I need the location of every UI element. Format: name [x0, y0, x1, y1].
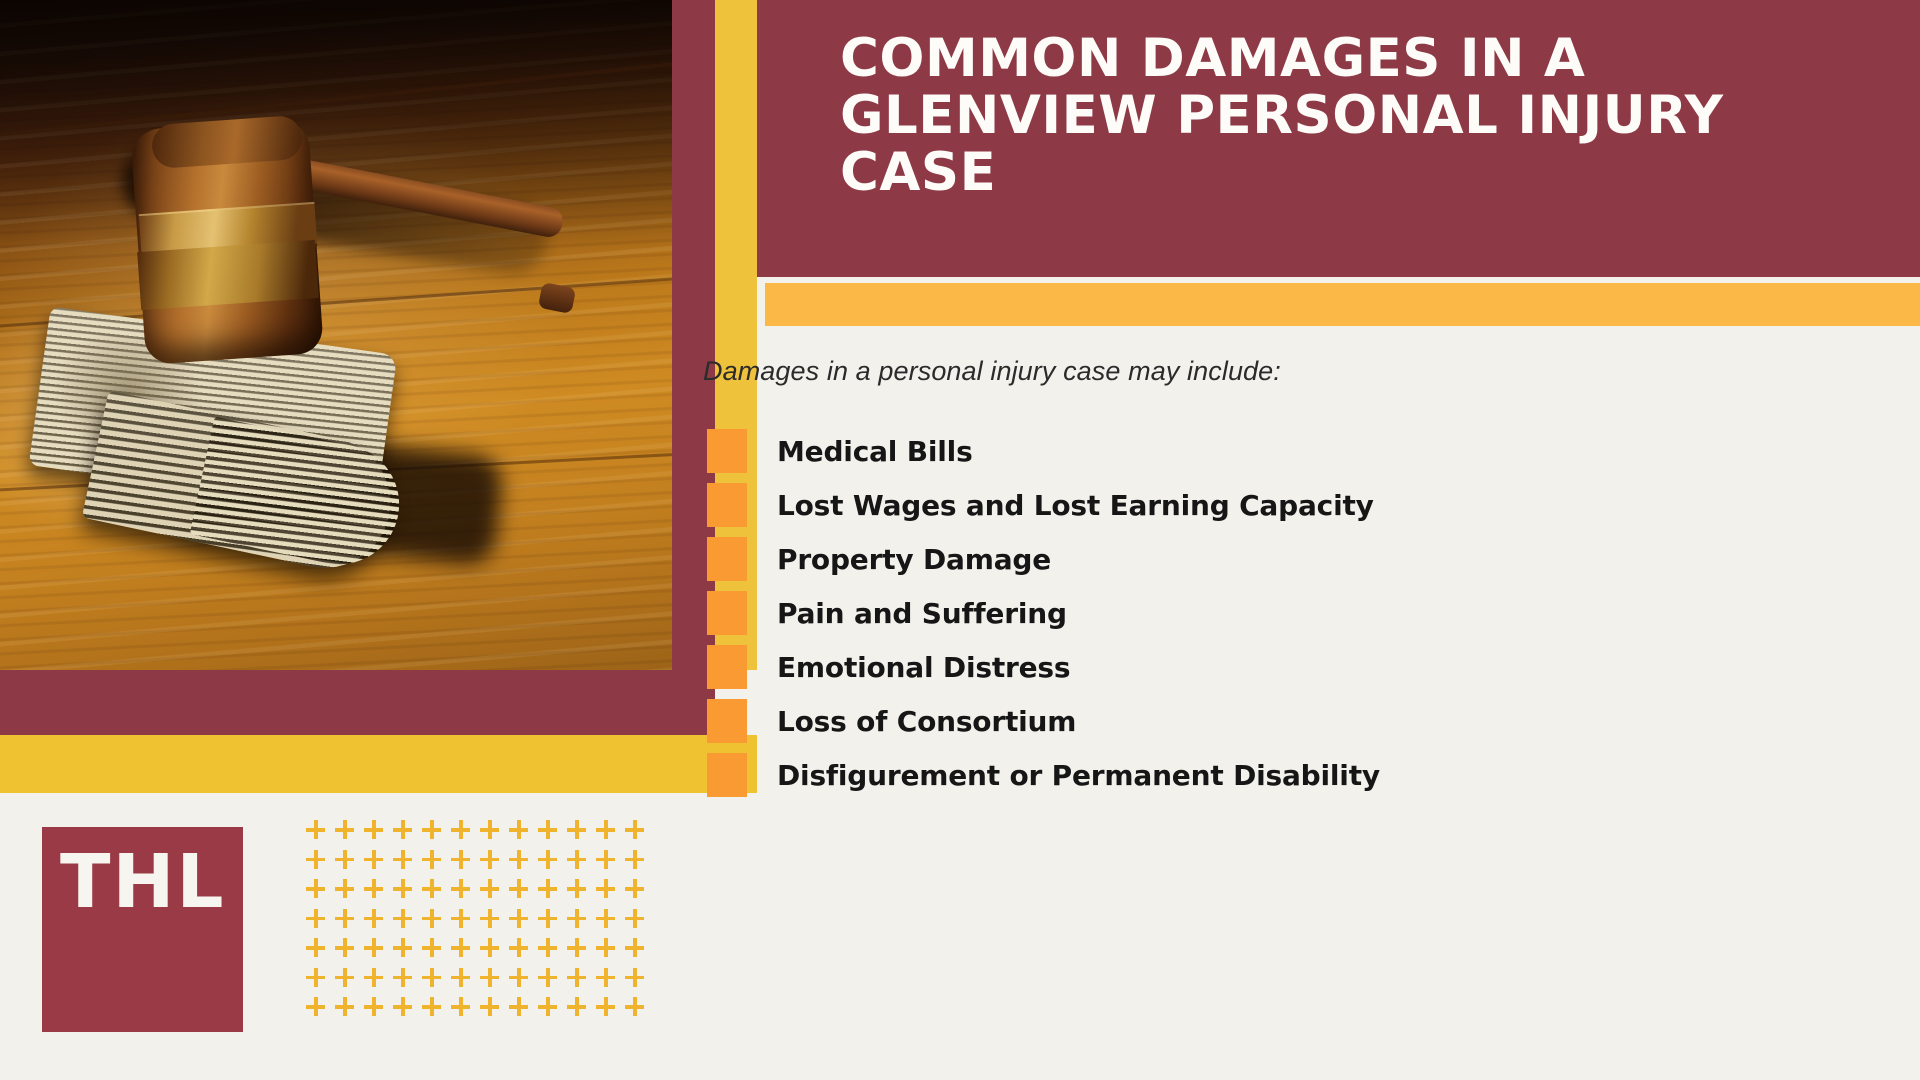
plus-icon	[451, 997, 470, 1016]
plus-icon	[335, 997, 354, 1016]
plus-icon	[625, 850, 644, 869]
plus-icon	[567, 997, 586, 1016]
list-item-label: Emotional Distress	[777, 651, 1070, 684]
plus-icon	[306, 879, 325, 898]
plus-icon	[538, 997, 557, 1016]
plus-icon	[480, 968, 499, 987]
plus-icon	[393, 879, 412, 898]
plus-icon	[625, 909, 644, 928]
plus-icon	[625, 879, 644, 898]
list-item: Disfigurement or Permanent Disability	[703, 748, 1893, 802]
plus-icon	[625, 938, 644, 957]
plus-icon	[538, 968, 557, 987]
plus-icon	[625, 820, 644, 839]
bullet-square-icon	[707, 537, 747, 581]
plus-icon	[567, 850, 586, 869]
plus-icon	[596, 909, 615, 928]
bullet-square-icon	[707, 753, 747, 797]
list-item-label: Medical Bills	[777, 435, 973, 468]
plus-icon	[538, 850, 557, 869]
plus-icon	[538, 879, 557, 898]
list-item: Pain and Suffering	[703, 586, 1893, 640]
plus-icon	[567, 879, 586, 898]
list-item: Emotional Distress	[703, 640, 1893, 694]
plus-icon	[364, 997, 383, 1016]
plus-icon	[335, 850, 354, 869]
plus-icon	[625, 997, 644, 1016]
plus-icon	[509, 968, 528, 987]
list-item: Lost Wages and Lost Earning Capacity	[703, 478, 1893, 532]
plus-icon	[335, 968, 354, 987]
plus-icon	[451, 909, 470, 928]
orange-accent-bar	[765, 283, 1920, 326]
list-item-label: Property Damage	[777, 543, 1051, 576]
plus-icon	[567, 938, 586, 957]
plus-icon	[480, 879, 499, 898]
plus-icon	[306, 820, 325, 839]
gavel-brass-band	[137, 240, 319, 310]
plus-icon	[335, 820, 354, 839]
frame-band-maroon-bottom	[0, 670, 715, 735]
list-item-label: Lost Wages and Lost Earning Capacity	[777, 489, 1374, 522]
bullet-square-icon	[707, 699, 747, 743]
title-header-block: Common Damages in a Glenview Personal In…	[757, 0, 1920, 277]
plus-icon	[335, 879, 354, 898]
list-item: Loss of Consortium	[703, 694, 1893, 748]
plus-icon	[625, 968, 644, 987]
plus-icon	[567, 909, 586, 928]
plus-icon	[393, 938, 412, 957]
plus-icon	[596, 968, 615, 987]
plus-icon	[596, 997, 615, 1016]
gavel-money-photo	[0, 0, 672, 670]
plus-icon	[393, 997, 412, 1016]
plus-icon	[451, 938, 470, 957]
plus-icon	[451, 820, 470, 839]
plus-icon	[393, 909, 412, 928]
thl-logo-text: THL	[60, 845, 226, 919]
bullet-square-icon	[707, 429, 747, 473]
plus-icon	[509, 938, 528, 957]
plus-icon	[509, 820, 528, 839]
frame-band-yellow-bottom	[0, 735, 757, 793]
plus-icon	[480, 909, 499, 928]
list-item: Medical Bills	[703, 424, 1893, 478]
plus-icon	[451, 879, 470, 898]
plus-icon	[567, 820, 586, 839]
plus-icon	[538, 909, 557, 928]
plus-icon	[538, 938, 557, 957]
plus-icon	[596, 938, 615, 957]
plus-icon	[596, 850, 615, 869]
plus-icon	[335, 909, 354, 928]
plus-icon	[509, 879, 528, 898]
plus-icon	[480, 850, 499, 869]
plus-icon	[509, 997, 528, 1016]
plus-icon	[393, 968, 412, 987]
plus-icon	[596, 879, 615, 898]
plus-icon	[393, 820, 412, 839]
plus-icon	[422, 909, 441, 928]
plus-icon	[364, 850, 383, 869]
plus-icon	[422, 820, 441, 839]
plus-icon	[422, 968, 441, 987]
plus-pattern-decoration	[306, 820, 636, 1035]
list-item-label: Loss of Consortium	[777, 705, 1076, 738]
plus-icon	[364, 909, 383, 928]
plus-icon	[422, 997, 441, 1016]
plus-icon	[364, 879, 383, 898]
bullet-square-icon	[707, 591, 747, 635]
infographic-canvas: Common Damages in a Glenview Personal In…	[0, 0, 1920, 1080]
plus-icon	[509, 850, 528, 869]
plus-icon	[422, 879, 441, 898]
list-item: Property Damage	[703, 532, 1893, 586]
plus-icon	[335, 938, 354, 957]
plus-icon	[451, 850, 470, 869]
bullet-square-icon	[707, 645, 747, 689]
intro-text: Damages in a personal injury case may in…	[703, 356, 1883, 387]
bullet-square-icon	[707, 483, 747, 527]
plus-icon	[422, 938, 441, 957]
plus-icon	[509, 909, 528, 928]
plus-icon	[567, 968, 586, 987]
plus-icon	[596, 820, 615, 839]
plus-icon	[306, 909, 325, 928]
list-item-label: Disfigurement or Permanent Disability	[777, 759, 1380, 792]
list-item-label: Pain and Suffering	[777, 597, 1067, 630]
thl-logo: THL	[42, 827, 243, 1032]
plus-icon	[451, 968, 470, 987]
plus-icon	[393, 850, 412, 869]
plus-icon	[480, 820, 499, 839]
plus-icon	[306, 968, 325, 987]
plus-icon	[306, 997, 325, 1016]
plus-icon	[538, 820, 557, 839]
plus-icon	[306, 850, 325, 869]
plus-icon	[480, 938, 499, 957]
plus-icon	[364, 968, 383, 987]
plus-icon	[480, 997, 499, 1016]
plus-icon	[422, 850, 441, 869]
plus-icon	[364, 938, 383, 957]
page-title: Common Damages in a Glenview Personal In…	[840, 30, 1860, 202]
plus-icon	[364, 820, 383, 839]
damages-list: Medical Bills Lost Wages and Lost Earnin…	[703, 424, 1893, 802]
plus-icon	[306, 938, 325, 957]
